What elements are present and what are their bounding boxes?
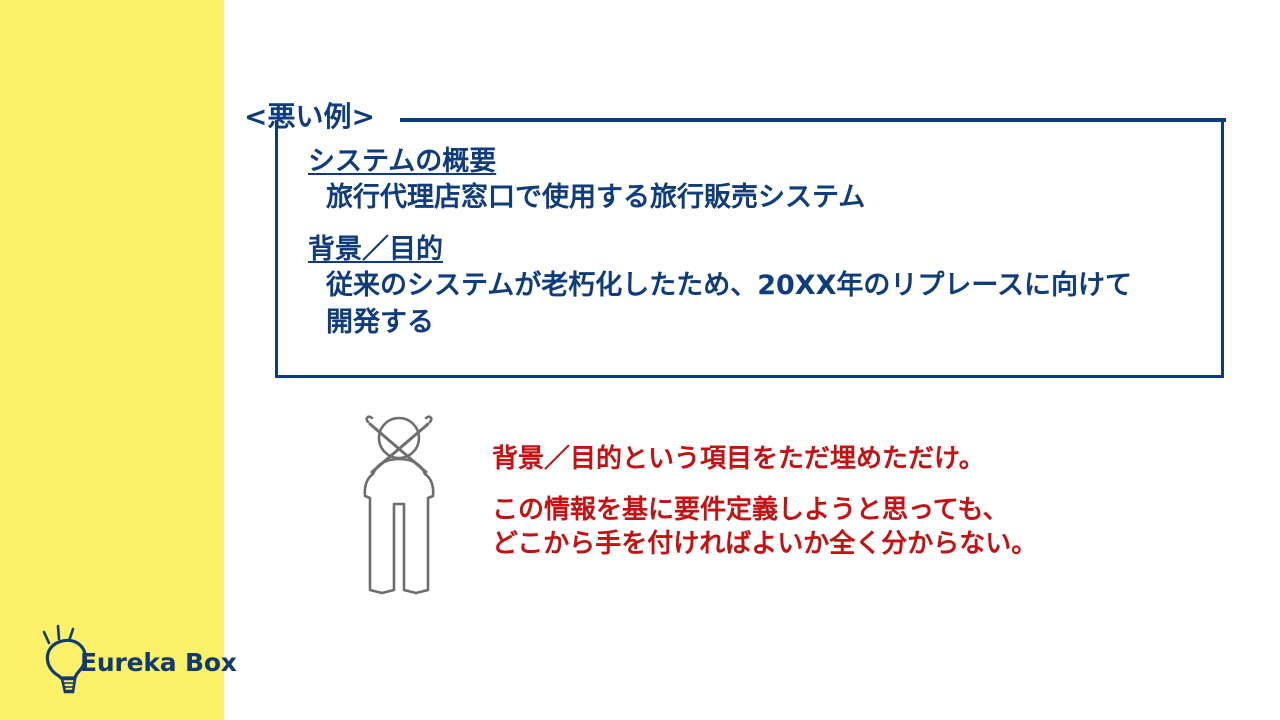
commentary-line-2: この情報を基に要件定義しようと思っても、 どこから手を付ければよいか全く分からな… [492,494,1192,561]
logo-wordmark: Eureka Box [80,648,237,677]
logo-letter-e: E [80,648,97,677]
group-body-system-overview: 旅行代理店窓口で使用する旅行販売システム [308,180,1218,216]
content-box-inner: システムの概要 旅行代理店窓口で使用する旅行販売システム 背景／目的 従来のシス… [308,146,1218,341]
group-body-background-purpose: 従来のシステムが老朽化したため、20XX年のリプレースに向けて 開発する [308,268,1218,341]
sidebar-yellow-panel [0,0,224,720]
figure-hand-left [367,417,372,422]
commentary-line-1: 背景／目的という項目をただ埋めただけ。 [492,443,1192,476]
group-system-overview: システムの概要 旅行代理店窓口で使用する旅行販売システム [308,146,1218,216]
logo-text-rest: ureka Box [97,648,237,677]
person-crossed-arms-x-icon [344,412,454,602]
eureka-box-logo: Eureka Box [28,620,208,706]
person-figure-illustration [344,412,454,602]
group-title-system-overview: システムの概要 [308,146,496,178]
figure-hand-right [426,417,431,422]
figure-body [365,474,433,593]
group-title-background-purpose: 背景／目的 [308,234,443,266]
group-background-purpose: 背景／目的 従来のシステムが老朽化したため、20XX年のリプレースに向けて 開発… [308,234,1218,341]
commentary-block: 背景／目的という項目をただ埋めただけ。 この情報を基に要件定義しようと思っても、… [492,443,1192,561]
figure-shoulders [373,459,425,474]
